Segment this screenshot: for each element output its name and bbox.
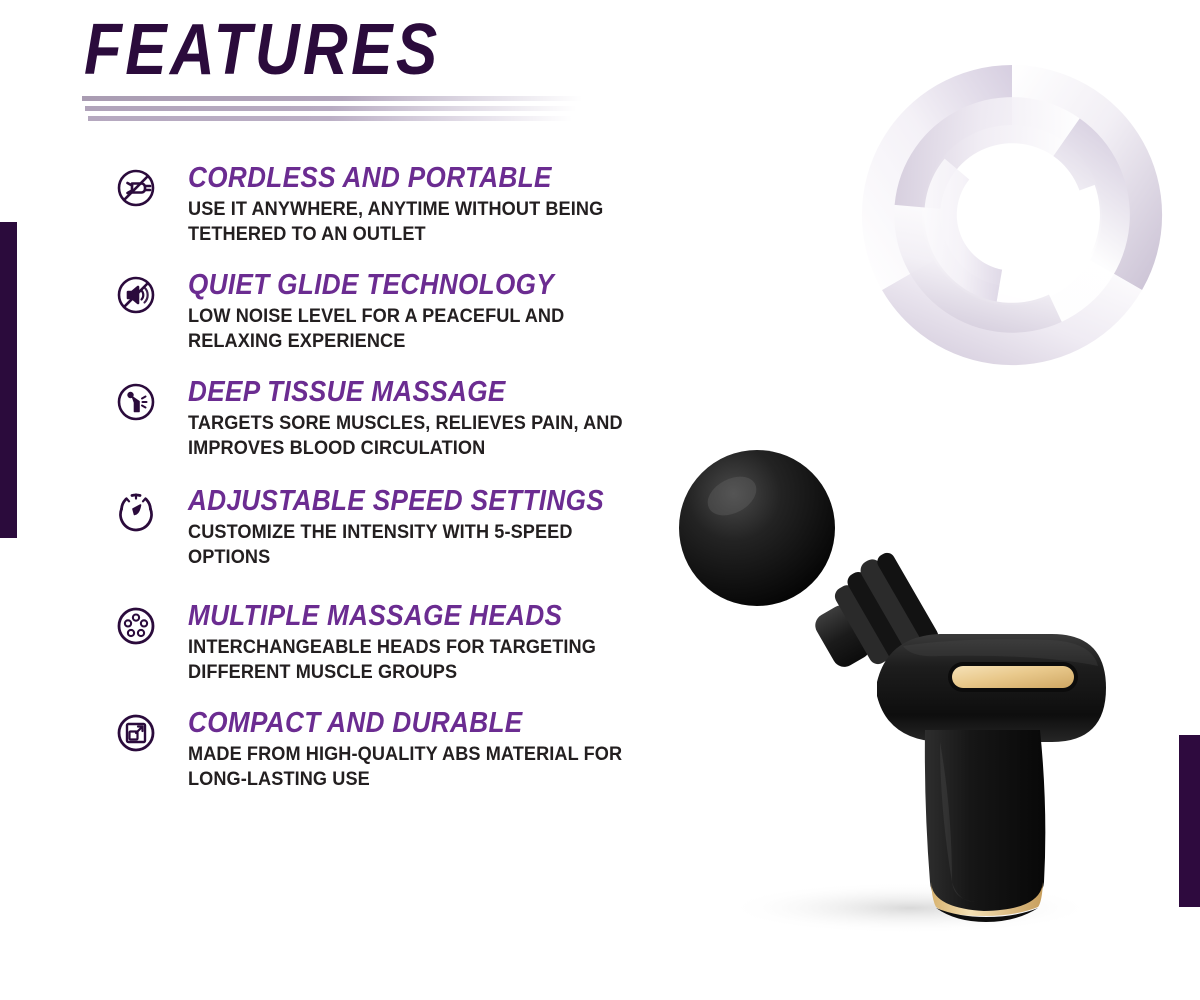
speedometer-gauge-icon — [114, 489, 158, 533]
feature-heading: ADJUSTABLE SPEED SETTINGS — [188, 485, 631, 517]
feature-list-poster: FEATURES CORDLESS AND PORTABLE USE IT AN… — [0, 0, 1200, 1000]
right-accent-bar — [1179, 735, 1200, 907]
title-underline-rules — [82, 96, 602, 128]
abstract-swirl-watermark — [812, 0, 1200, 440]
feature-heading: QUIET GLIDE TECHNOLOGY — [188, 269, 631, 301]
feature-heading: MULTIPLE MASSAGE HEADS — [188, 600, 631, 632]
massage-gun-impact-icon — [114, 380, 158, 424]
page-title: FEATURES — [84, 12, 531, 88]
feature-description: TARGETS SORE MUSCLES, RELIEVES PAIN, AND… — [188, 411, 646, 461]
left-accent-bar — [0, 222, 17, 538]
feature-heading: COMPACT AND DURABLE — [188, 707, 631, 739]
mute-speaker-icon — [114, 273, 158, 317]
feature-heading: CORDLESS AND PORTABLE — [188, 162, 631, 194]
no-cord-plug-icon — [114, 166, 158, 210]
title-rule-2 — [85, 106, 577, 111]
feature-description: CUSTOMIZE THE INTENSITY WITH 5-SPEED OPT… — [188, 520, 646, 570]
feature-item-adjustable-speed-settings: ADJUSTABLE SPEED SETTINGS CUSTOMIZE THE … — [110, 485, 680, 570]
feature-item-compact-and-durable: COMPACT AND DURABLE MADE FROM HIGH-QUALI… — [110, 707, 680, 792]
feature-item-multiple-massage-heads: MULTIPLE MASSAGE HEADS INTERCHANGEABLE H… — [110, 600, 680, 685]
multiple-heads-circles-icon — [114, 604, 158, 648]
feature-heading: DEEP TISSUE MASSAGE — [188, 376, 631, 408]
massage-gun-product-photo — [640, 430, 1160, 940]
title-rule-3 — [88, 116, 572, 121]
page-header: FEATURES — [84, 12, 604, 88]
feature-description: INTERCHANGEABLE HEADS FOR TARGETING DIFF… — [188, 635, 646, 685]
feature-description: MADE FROM HIGH-QUALITY ABS MATERIAL FOR … — [188, 742, 646, 792]
feature-list: CORDLESS AND PORTABLE USE IT ANYWHERE, A… — [110, 162, 680, 792]
feature-description: USE IT ANYWHERE, ANYTIME WITHOUT BEING T… — [188, 197, 646, 247]
resize-compact-icon — [114, 711, 158, 755]
title-rule-1 — [82, 96, 582, 101]
feature-description: LOW NOISE LEVEL FOR A PEACEFUL AND RELAX… — [188, 304, 646, 354]
feature-item-quiet-glide-technology: QUIET GLIDE TECHNOLOGY LOW NOISE LEVEL F… — [110, 269, 680, 354]
feature-item-cordless-and-portable: CORDLESS AND PORTABLE USE IT ANYWHERE, A… — [110, 162, 680, 247]
feature-item-deep-tissue-massage: DEEP TISSUE MASSAGE TARGETS SORE MUSCLES… — [110, 376, 680, 461]
